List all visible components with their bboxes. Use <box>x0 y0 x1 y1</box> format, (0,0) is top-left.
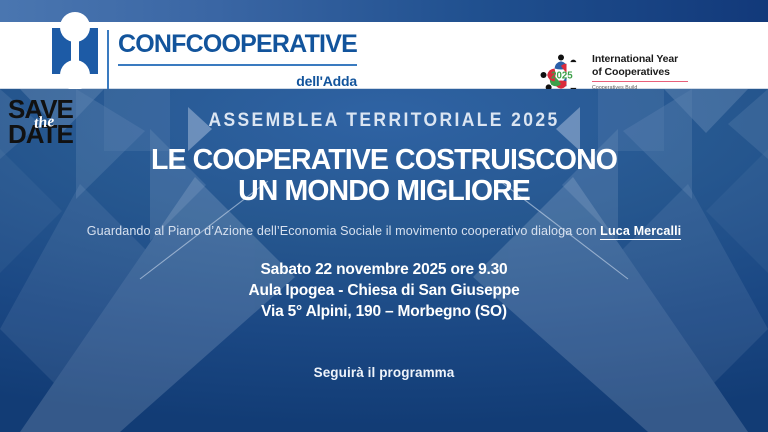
brand-name: CONFCOOPERATIVE <box>118 29 357 59</box>
event-headline: LE COOPERATIVE COSTRUISCONO UN MONDO MIG… <box>0 145 768 207</box>
brand-territory: dell'Adda <box>118 73 357 89</box>
header-bar: CONFCOOPERATIVE dell'Adda <box>0 22 768 89</box>
event-venue: Aula Ipogea - Chiesa di San Giuseppe <box>0 280 768 301</box>
event-footnote: Seguirà il programma <box>0 365 768 380</box>
guest-speaker-name: Luca Mercalli <box>600 224 681 240</box>
confcooperative-wordmark: CONFCOOPERATIVE dell'Adda <box>118 28 357 89</box>
confcooperative-logo-icon <box>52 28 98 74</box>
event-details: Sabato 22 novembre 2025 ore 9.30 Aula Ip… <box>0 259 768 322</box>
iyc-rule <box>592 81 688 82</box>
subtitle-text: Guardando al Piano d’Azione dell’Economi… <box>87 224 600 238</box>
iyc-title-line2: of Cooperatives <box>592 66 688 79</box>
event-address: Via 5° Alpini, 190 – Morbegno (SO) <box>0 301 768 322</box>
headline-line-2: UN MONDO MIGLIORE <box>0 176 768 207</box>
event-kicker: ASSEMBLEA TERRITORIALE 2025 <box>31 110 738 132</box>
iyc-title-line1: International Year <box>592 53 688 66</box>
event-date: Sabato 22 novembre 2025 ore 9.30 <box>0 259 768 280</box>
logo-mark-bar <box>71 36 79 66</box>
event-subtitle: Guardando al Piano d’Azione dell’Economi… <box>0 223 768 240</box>
poster-content: ASSEMBLEA TERRITORIALE 2025 LE COOPERATI… <box>0 89 768 432</box>
headline-line-1: LE COOPERATIVE COSTRUISCONO <box>0 145 768 176</box>
top-accent-strip <box>0 0 768 22</box>
iyc-year-label: 2025 <box>551 71 573 82</box>
confcooperative-logo: CONFCOOPERATIVE dell'Adda <box>52 28 357 95</box>
brand-underline-rule <box>118 64 357 66</box>
logo-divider <box>107 30 109 95</box>
